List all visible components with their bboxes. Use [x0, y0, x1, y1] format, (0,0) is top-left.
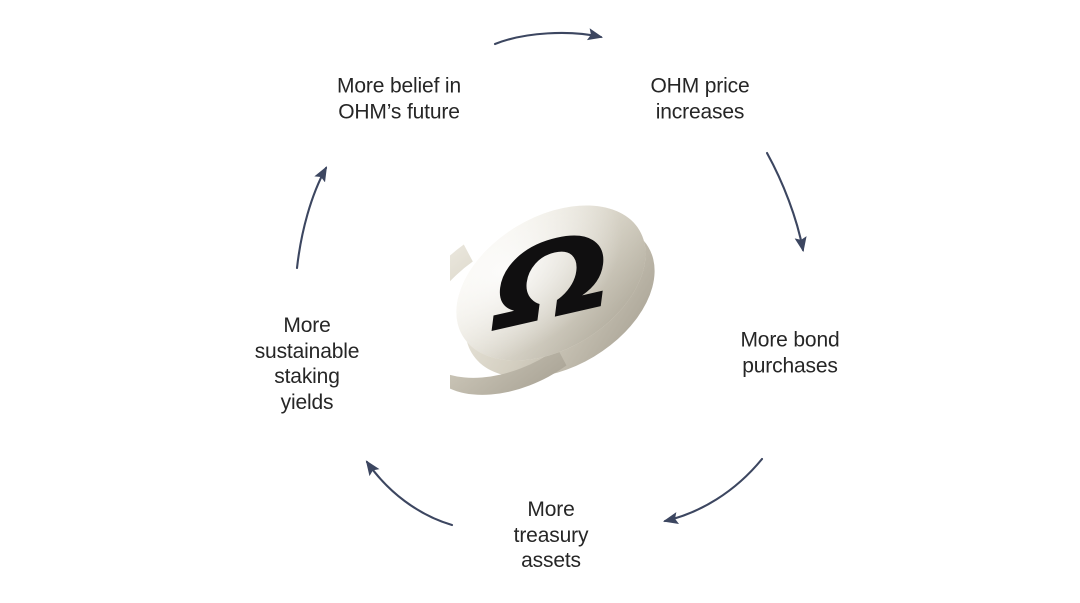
arrow-price-to-bond [767, 153, 803, 250]
arrow-belief-to-price [495, 33, 601, 44]
arrow-bond-to-treasury [665, 459, 762, 521]
ohm-coin: Ω [450, 176, 660, 404]
arrow-yields-to-belief [297, 168, 326, 268]
flywheel-diagram: Ω More belief in OHM’s future OHM price … [0, 0, 1080, 603]
arrow-treasury-to-yields [367, 462, 452, 525]
ohm-coin-graphic: Ω [450, 176, 660, 404]
